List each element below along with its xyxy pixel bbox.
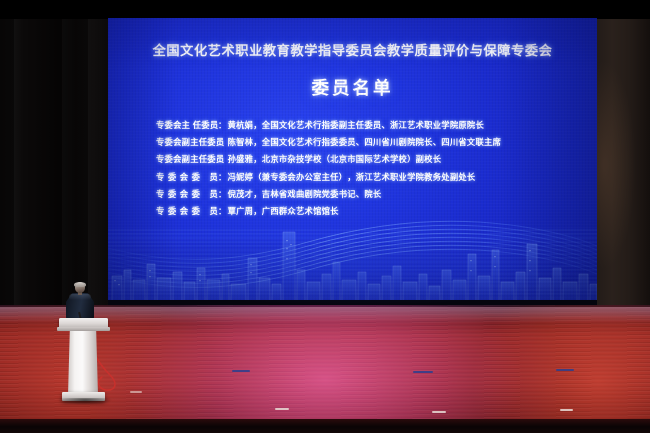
floor-marker xyxy=(556,369,574,371)
slide-title: 全国文化艺术职业教育教学指导委员会教学质量评价与保障专委会 xyxy=(153,40,553,59)
floor-marker xyxy=(560,409,573,411)
roster-titles: 北京市杂技学校（北京市国际艺术学校）副校长 xyxy=(262,153,442,165)
slide-subtitle: 委员名单 xyxy=(312,75,394,100)
floor-marker xyxy=(432,411,446,413)
roster-role: 专委会委 员 xyxy=(156,171,218,183)
roster-colon: ： xyxy=(218,171,227,183)
roster-role: 专委会副主任委员 xyxy=(156,136,218,148)
roster-separator: ， xyxy=(253,119,262,131)
roster-colon: ： xyxy=(218,188,227,200)
podium-lip xyxy=(57,327,110,331)
roster-name: 冯妮婷（兼专委会办公室主任） xyxy=(228,171,348,183)
roster-role: 专委会副主任委员 xyxy=(156,153,218,165)
roster-row: 专委会副主任委员 ： 孙盛雅 ， 北京市杂技学校（北京市国际艺术学校）副校长 xyxy=(156,153,597,165)
committee-roster-list: 专委会主 任委员 ： 黄杭娟 ， 全国文化艺术行指委副主任委员、浙江艺术职业学院… xyxy=(108,119,597,217)
roster-titles: 浙江艺术职业学院教务处副处长 xyxy=(356,171,476,183)
roster-colon: ： xyxy=(218,153,227,165)
roster-row: 专委会主 任委员 ： 黄杭娟 ， 全国文化艺术行指委副主任委员、浙江艺术职业学院… xyxy=(156,119,597,131)
roster-row: 专委会委 员 ： 倪茂才 ， 吉林省戏曲剧院党委书记、院长 xyxy=(156,188,597,200)
skyline-icon xyxy=(108,214,597,306)
ceiling-shadow xyxy=(0,0,650,19)
podium-column xyxy=(68,331,98,395)
roster-role: 专委会委 员 xyxy=(156,188,218,200)
side-wall-glow xyxy=(596,60,636,270)
audio-cable-icon xyxy=(86,329,176,399)
floor-marker xyxy=(275,408,289,410)
presentation-slide: 全国文化艺术职业教育教学指导委员会教学质量评价与保障专委会 委员名单 专委会主 … xyxy=(108,18,597,306)
stage-front-edge xyxy=(0,419,650,433)
floor-marker xyxy=(413,371,433,373)
roster-row: 专委会委 员 ： 冯妮婷（兼专委会办公室主任） ， 浙江艺术职业学院教务处副处长 xyxy=(156,171,597,183)
roster-separator: ， xyxy=(347,171,356,183)
skyline-graphic xyxy=(108,214,597,306)
floor-marker xyxy=(232,370,250,372)
roster-titles: 全国文化艺术行指委委员、四川省川剧院院长、四川省文联主席 xyxy=(262,136,501,148)
roster-separator: ， xyxy=(253,136,262,148)
conference-stage-photo: 全国文化艺术职业教育教学指导委员会教学质量评价与保障专委会 委员名单 专委会主 … xyxy=(0,0,650,433)
roster-role: 专委会主 任委员 xyxy=(156,119,218,131)
roster-titles: 全国文化艺术行指委副主任委员、浙江艺术职业学院原院长 xyxy=(262,119,484,131)
roster-name: 孙盛雅 xyxy=(228,153,254,165)
roster-titles: 吉林省戏曲剧院党委书记、院长 xyxy=(262,188,382,200)
speaker-hair xyxy=(74,282,86,288)
podium-shadow xyxy=(58,398,112,405)
roster-separator: ， xyxy=(253,188,262,200)
roster-separator: ， xyxy=(253,153,262,165)
roster-row: 专委会副主任委员 ： 陈智林 ， 全国文化艺术行指委委员、四川省川剧院院长、四川… xyxy=(156,136,597,148)
roster-name: 黄杭娟 xyxy=(228,119,254,131)
roster-name: 倪茂才 xyxy=(228,188,254,200)
led-screen: 全国文化艺术职业教育教学指导委员会教学质量评价与保障专委会 委员名单 专委会主 … xyxy=(108,18,597,306)
roster-name: 陈智林 xyxy=(228,136,254,148)
roster-colon: ： xyxy=(218,136,227,148)
roster-colon: ： xyxy=(218,119,227,131)
